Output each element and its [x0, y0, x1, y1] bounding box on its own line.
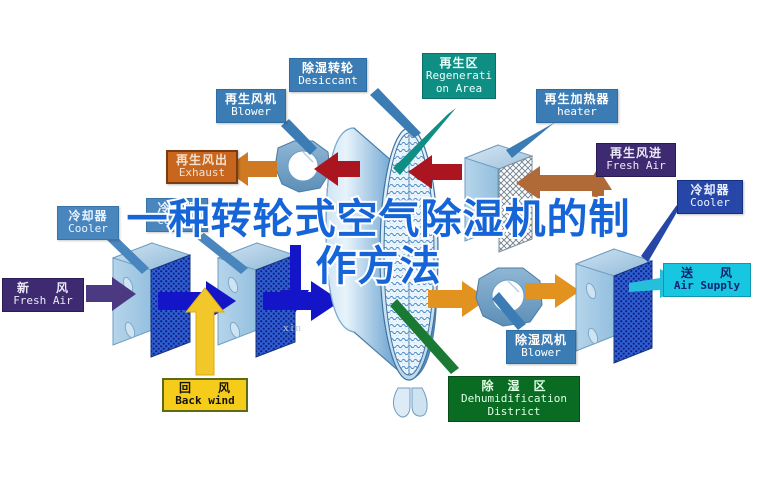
label-cooler-right-en: Cooler: [680, 197, 740, 209]
label-regen-area[interactable]: 再生区 Regenerati on Area: [422, 53, 496, 99]
label-dehumid-district-cn: 除 湿 区: [451, 380, 577, 393]
label-dehumid-blower-cn: 除湿风机: [509, 334, 573, 347]
label-dehumid-district-en2: District: [451, 406, 577, 418]
label-cooler-left-2[interactable]: 冷却器 Cooler: [146, 198, 208, 232]
label-regen-fresh-air-cn: 再生风进: [599, 147, 673, 160]
label-cooler-left-2-en: Cooler: [149, 215, 205, 227]
label-back-wind[interactable]: 回 风 Back wind: [162, 378, 248, 412]
label-fresh-air-cn: 新 风: [5, 282, 81, 295]
label-cooler-left-1[interactable]: 冷却器 Cooler: [57, 206, 119, 240]
label-cooler-right-cn: 冷却器: [680, 184, 740, 197]
label-cooler-left-2-cn: 冷却器: [149, 202, 205, 215]
label-back-wind-en: Back wind: [166, 395, 244, 407]
label-dehumid-blower[interactable]: 除湿风机 Blower: [506, 330, 576, 364]
label-exhaust[interactable]: 再生风出 Exhaust: [166, 150, 238, 184]
dehumidifier-diagram: 除湿转轮 Desiccant 再生风机 Blower 再生区 Regenerat…: [0, 0, 757, 488]
label-regen-fresh-air[interactable]: 再生风进 Fresh Air: [596, 143, 676, 177]
label-desiccant-wheel[interactable]: 除湿转轮 Desiccant: [289, 58, 367, 92]
label-regen-area-cn: 再生区: [425, 57, 493, 70]
label-regen-area-en2: on Area: [425, 83, 493, 95]
diagram-canvas: [0, 0, 757, 488]
label-regen-heater-en: heater: [539, 106, 615, 118]
label-dehumid-district-en: Dehumidification: [451, 393, 577, 405]
label-air-supply[interactable]: 送 风 Air Supply: [663, 263, 751, 297]
label-fresh-air-en: Fresh Air: [5, 295, 81, 307]
label-regen-fresh-air-en: Fresh Air: [599, 160, 673, 172]
label-regen-blower-en: Blower: [219, 106, 283, 118]
label-regen-blower[interactable]: 再生风机 Blower: [216, 89, 286, 123]
cooler-block-3: [576, 249, 652, 363]
label-cooler-right[interactable]: 冷却器 Cooler: [677, 180, 743, 214]
label-dehumid-district[interactable]: 除 湿 区 Dehumidification District: [448, 376, 580, 422]
label-air-supply-en: Air Supply: [666, 280, 748, 292]
label-fresh-air[interactable]: 新 风 Fresh Air: [2, 278, 84, 312]
label-exhaust-cn: 再生风出: [170, 154, 234, 167]
label-air-supply-cn: 送 风: [666, 267, 748, 280]
label-cooler-left-1-en: Cooler: [60, 223, 116, 235]
label-regen-heater[interactable]: 再生加热器 heater: [536, 89, 618, 123]
label-regen-heater-cn: 再生加热器: [539, 93, 615, 106]
label-back-wind-cn: 回 风: [166, 382, 244, 395]
regen-heater-block: [465, 145, 532, 252]
label-regen-blower-cn: 再生风机: [219, 93, 283, 106]
watermark-text: xin: [283, 322, 303, 334]
label-cooler-left-1-cn: 冷却器: [60, 210, 116, 223]
label-dehumid-blower-en: Blower: [509, 347, 573, 359]
label-desiccant-wheel-en: Desiccant: [292, 75, 364, 87]
label-exhaust-en: Exhaust: [170, 167, 234, 179]
label-regen-area-en: Regenerati: [425, 70, 493, 82]
label-desiccant-wheel-cn: 除湿转轮: [292, 62, 364, 75]
